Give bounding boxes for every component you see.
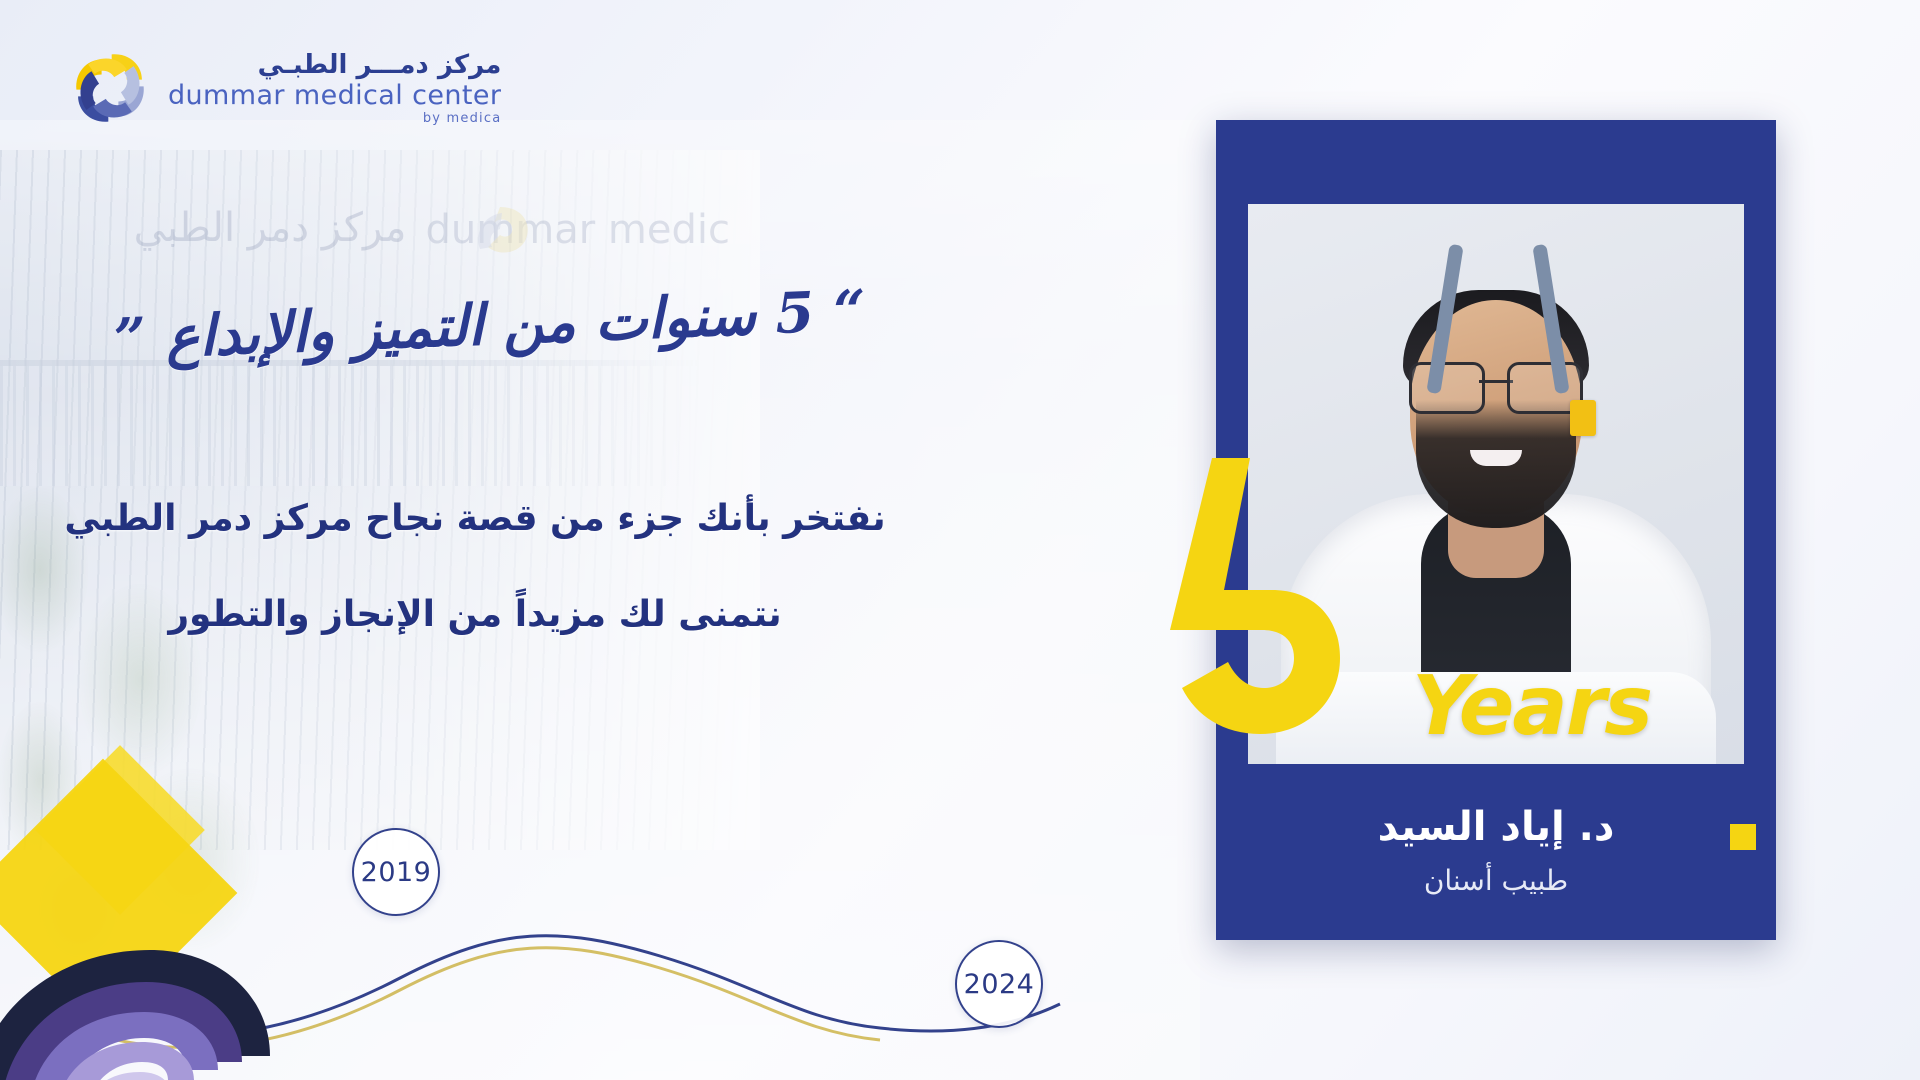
brand-logo: مركز دمـــر الطبـي dummar medical center… (68, 46, 501, 130)
doctor-name: د. إياد السيد (1216, 804, 1776, 850)
anniversary-word: Years (1412, 659, 1651, 754)
body-copy: نفتخر بأنك جزء من قصة نجاح مركز دمر الطب… (45, 500, 905, 634)
timeline-year-2024[interactable]: 2024 (955, 940, 1043, 1028)
poster-canvas: مركز دمر الطبي dummar medica (0, 0, 1920, 1080)
background-railing (0, 360, 700, 486)
doctor-role: طبيب أسنان (1216, 864, 1776, 897)
brand-name-arabic: مركز دمـــر الطبـي (258, 52, 502, 78)
body-line-1: نفتخر بأنك جزء من قصة نجاح مركز دمر الطب… (45, 500, 905, 538)
brand-byline: by medica (423, 112, 502, 125)
id-badge (1570, 400, 1596, 436)
background-signage: مركز دمر الطبي dummar medica (70, 185, 730, 295)
svg-text:dummar medica: dummar medica (426, 207, 730, 253)
svg-text:مركز دمر الطبي: مركز دمر الطبي (134, 205, 407, 251)
doctor-card: Years د. إياد السيد طبيب أسنان (1216, 120, 1776, 940)
body-line-2: نتمنى لك مزيداً من الإنجاز والتطور (45, 596, 905, 634)
anniversary-number (1154, 450, 1414, 780)
accent-square (1730, 824, 1756, 850)
logo-swirl-icon (68, 46, 152, 130)
brand-name-english: dummar medical center (168, 82, 501, 109)
decorative-spiral (0, 800, 350, 1080)
timeline-year-2019[interactable]: 2019 (352, 828, 440, 916)
